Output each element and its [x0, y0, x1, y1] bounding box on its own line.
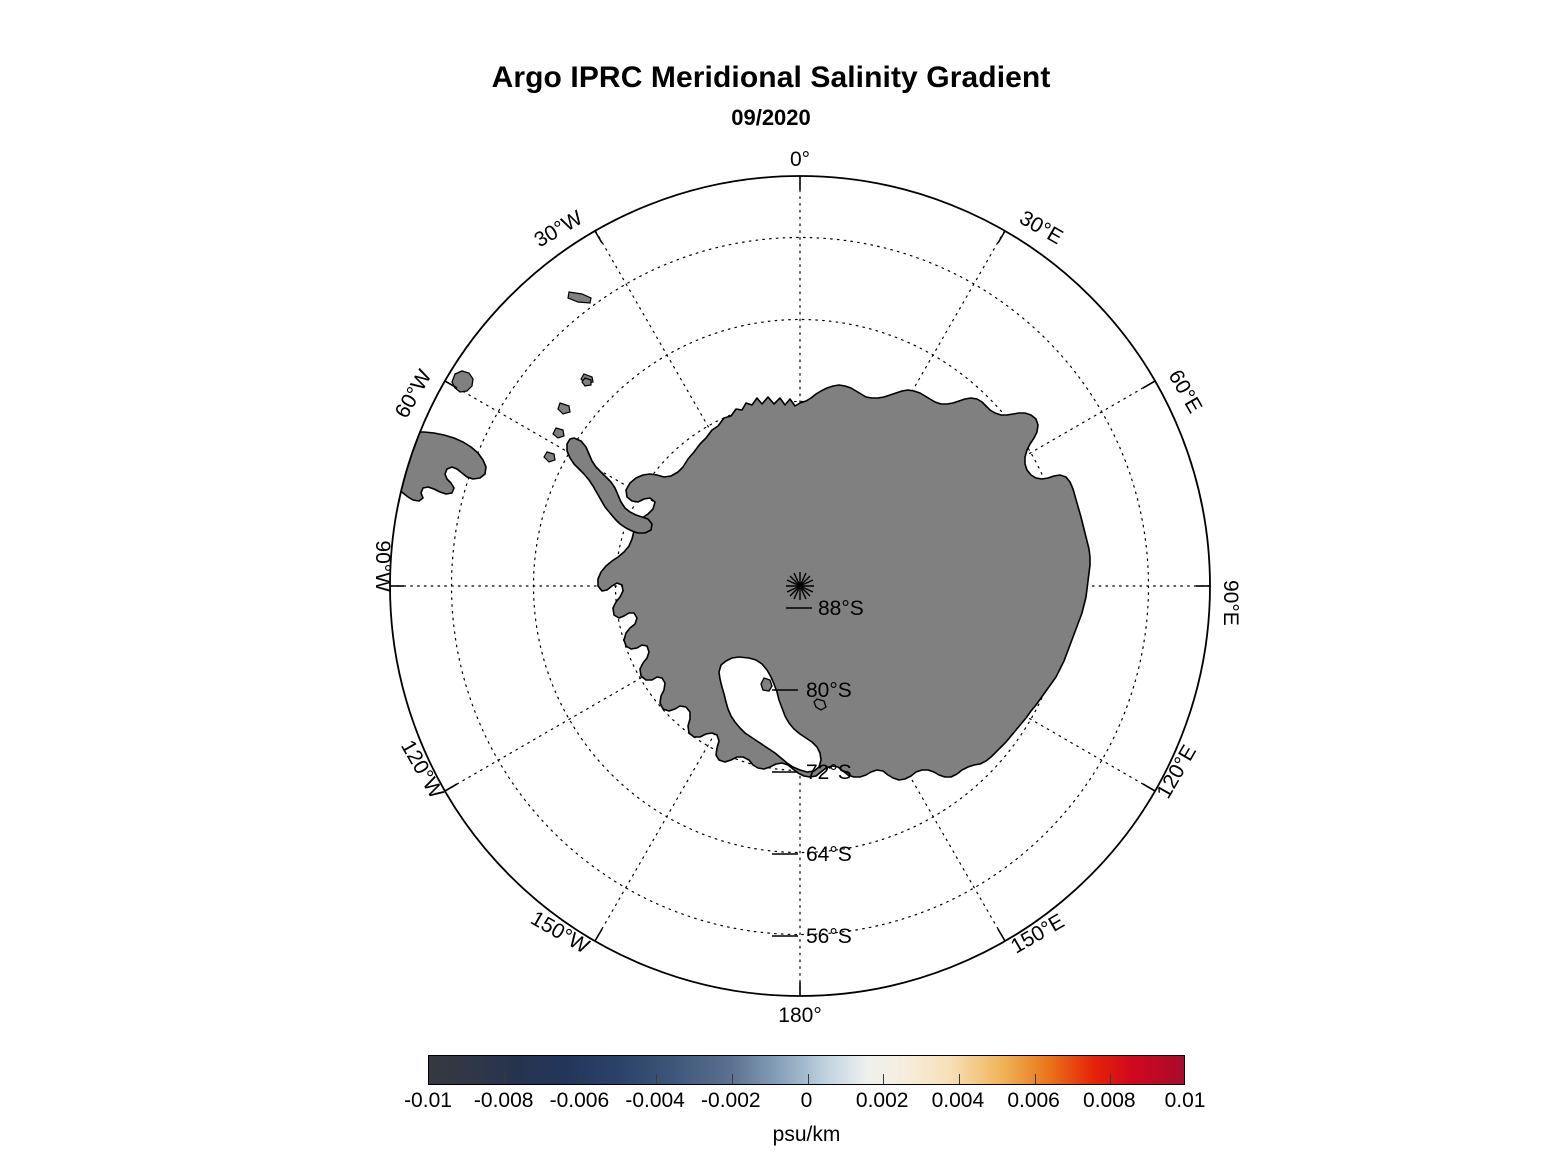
longitude-label-90E: 90°E [1219, 580, 1242, 626]
colorbar-tick-label: 0.006 [1007, 1089, 1060, 1113]
colorbar-tick-label: 0.004 [932, 1089, 985, 1113]
falkland-islands [452, 371, 473, 392]
colorbar-gradient [428, 1055, 1185, 1085]
polar-map: 88°S 80°S 72°S 64°S 56°S 0° 30°E 60°E 90… [0, 0, 1542, 1040]
colorbar-tick [808, 1074, 809, 1084]
longitude-label-0: 0° [790, 148, 810, 171]
latitude-label-72: 72°S [806, 761, 852, 784]
colorbar-tick [580, 1074, 581, 1084]
colorbar-tick-label: 0.002 [856, 1089, 909, 1113]
longitude-label-90W: 90°W [371, 540, 394, 592]
colorbar-tick [732, 1074, 733, 1084]
colorbar-tick-label: 0 [801, 1089, 813, 1113]
map-canvas: 88°S 80°S 72°S 64°S 56°S 0° 30°E 60°E 90… [0, 0, 1542, 1040]
colorbar-tick [505, 1074, 506, 1084]
colorbar-tick [1035, 1074, 1036, 1084]
colorbar-unit-label: psu/km [428, 1123, 1185, 1147]
colorbar-tick-label: -0.006 [550, 1089, 610, 1113]
colorbar-tick-label: -0.01 [404, 1089, 452, 1113]
pole-star-marker [786, 572, 814, 600]
latitude-label-56: 56°S [806, 925, 852, 948]
colorbar-tick [1110, 1074, 1111, 1084]
colorbar-tick-label: -0.008 [474, 1089, 534, 1113]
ross-island-small-a [761, 678, 772, 691]
colorbar-tick-label: 0.01 [1165, 1089, 1206, 1113]
colorbar-tick [959, 1074, 960, 1084]
latitude-label-64: 64°S [806, 843, 852, 866]
colorbar-tick [656, 1074, 657, 1084]
colorbar-tick [883, 1074, 884, 1084]
colorbar-tick-label: -0.002 [701, 1089, 761, 1113]
colorbar-tick-label: 0.008 [1083, 1089, 1136, 1113]
longitude-label-180: 180° [778, 1004, 821, 1027]
colorbar: -0.01 -0.008 -0.006 -0.004 -0.002 0 0.00… [428, 1055, 1185, 1147]
colorbar-tick-label: -0.004 [625, 1089, 685, 1113]
latitude-label-80: 80°S [806, 679, 852, 702]
colorbar-tick-labels: -0.01 -0.008 -0.006 -0.004 -0.002 0 0.00… [428, 1089, 1185, 1117]
latitude-label-88: 88°S [818, 597, 864, 620]
